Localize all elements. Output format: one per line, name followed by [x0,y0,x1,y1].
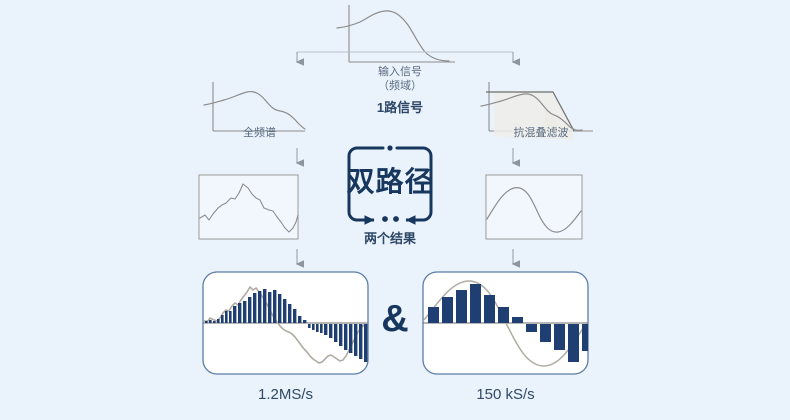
left-spectrum-label: 全频谱 [212,127,307,141]
right-spectrum-label: 抗混叠滤波 [488,127,594,141]
diagram-svg [0,0,790,420]
input-signal-caption-line2: （频域） [341,80,459,94]
ampersand-separator: & [371,296,419,344]
full-spectrum-graph [204,82,305,131]
noisy-waveform-scope [199,175,298,239]
badge-top-dot [387,145,392,150]
dual-path-subtitle: 两个结果 [337,231,443,247]
top-split-connector [297,52,513,62]
badge-dot-left [382,216,388,222]
input-signal-caption-line1: 输入信号 [341,66,459,80]
diagram-canvas: 输入信号 （频域） 1路信号 全频谱 抗混叠滤波 双路径 两个结果 & 1.2M… [0,0,790,420]
badge-dot-right [393,216,399,222]
channel-count-label: 1路信号 [341,100,459,116]
sine-waveform-scope [486,175,582,239]
left-result-rate-label: 1.2MS/s [213,386,358,405]
input-signal-caption: 输入信号 （频域） [341,66,459,94]
dual-path-title: 双路径 [337,164,443,199]
result-panel-low-rate [423,272,593,374]
input-signal-graph [337,5,455,62]
right-result-rate-label: 150 kS/s [433,386,578,405]
